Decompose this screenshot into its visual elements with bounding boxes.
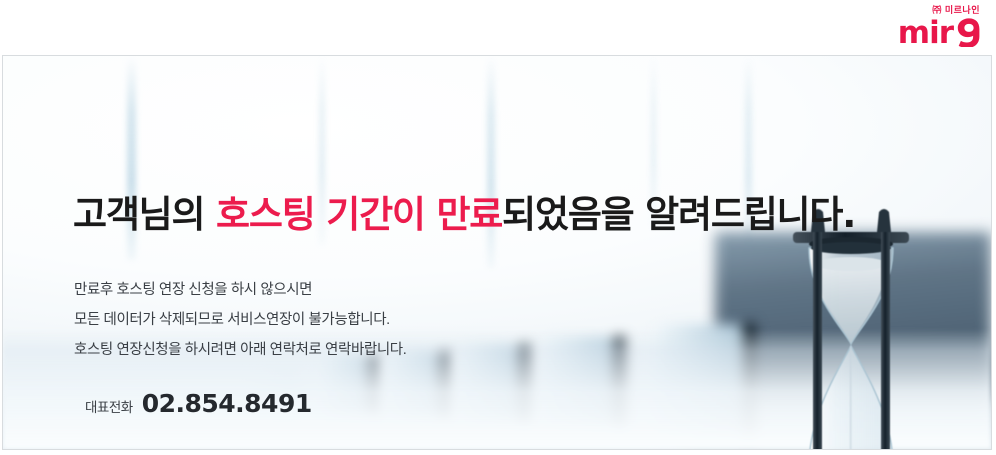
headline-highlight: 호스팅 기간이 만료 bbox=[216, 193, 502, 236]
contact-phone: 대표전화 02.854.8491 bbox=[85, 389, 312, 418]
company-logo[interactable]: ㈜ 미르나인 mir bbox=[870, 4, 982, 52]
phone-label: 대표전화 bbox=[85, 396, 133, 416]
page-title: 고객님의 호스팅 기간이 만료되었음을 알려드립니다. bbox=[73, 184, 855, 238]
notice-banner: 고객님의 호스팅 기간이 만료되었음을 알려드립니다. 만료후 호스팅 연장 신… bbox=[2, 55, 992, 450]
headline-suffix: 되었음을 알려드립니다. bbox=[502, 193, 855, 236]
logo-wordmark-group: mir bbox=[870, 17, 982, 47]
expiry-notice-page: ㈜ 미르나인 mir bbox=[0, 0, 996, 455]
notice-body: 만료후 호스팅 연장 신청을 하시 않으시면 모든 데이터가 삭제되므로 서비스… bbox=[74, 275, 406, 365]
notice-line: 호스팅 연장신청을 하시려면 아래 연락처로 연락바랍니다. bbox=[74, 335, 406, 365]
notice-line: 모든 데이터가 삭제되므로 서비스연장이 불가능합니다. bbox=[74, 305, 406, 335]
notice-line: 만료후 호스팅 연장 신청을 하시 않으시면 bbox=[74, 275, 406, 305]
hourglass-icon bbox=[775, 204, 927, 449]
logo-nine-icon bbox=[956, 17, 982, 47]
phone-number[interactable]: 02.854.8491 bbox=[142, 389, 312, 418]
logo-wordmark-text: mir bbox=[898, 19, 953, 47]
headline-prefix: 고객님의 bbox=[73, 193, 216, 236]
